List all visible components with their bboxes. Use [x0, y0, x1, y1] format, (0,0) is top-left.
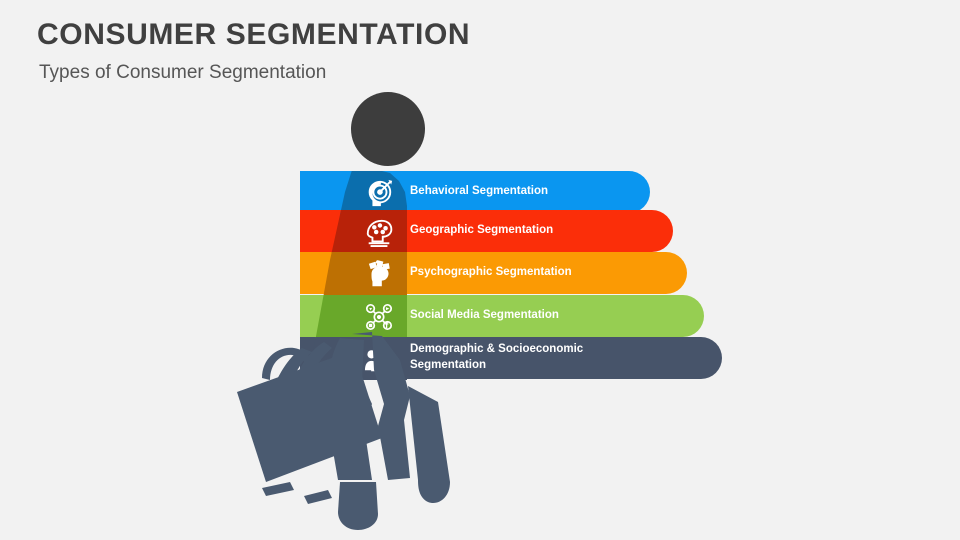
segmentation-row[interactable]: Psychographic Segmentation	[300, 252, 687, 294]
segmentation-label: Psychographic Segmentation	[410, 252, 572, 294]
torso-shape	[300, 170, 430, 385]
segmentation-row[interactable]: Geographic Segmentation	[300, 210, 673, 252]
segmentation-bar[interactable]	[300, 210, 673, 252]
segmentation-icon-panel[interactable]	[300, 210, 430, 253]
page-subtitle: Types of Consumer Segmentation	[39, 62, 326, 84]
segmentation-icon-panel[interactable]	[300, 295, 430, 338]
head-map-icon	[362, 215, 396, 249]
segmentation-row[interactable]: Behavioral Segmentation	[300, 171, 650, 213]
head-ideas-icon	[362, 257, 396, 291]
segmentation-label: Demographic & Socioeconomic Segmentation	[410, 337, 583, 379]
people-group-icon	[362, 342, 396, 376]
segmentation-bar[interactable]	[300, 252, 687, 294]
segmentation-icon-panel[interactable]	[300, 337, 430, 380]
slide-canvas: CONSUMER SEGMENTATION Types of Consumer …	[0, 0, 960, 540]
segmentation-row[interactable]: Demographic & Socioeconomic Segmentation	[300, 337, 722, 379]
shopper-silhouette-icon	[232, 330, 462, 530]
segmentation-row[interactable]: Social Media Segmentation	[300, 295, 704, 337]
segmentation-label: Behavioral Segmentation	[410, 171, 548, 213]
segmentation-icon-panel[interactable]	[300, 252, 430, 295]
segmentation-bar[interactable]	[300, 337, 722, 379]
social-network-icon	[362, 300, 396, 334]
segmentation-label: Geographic Segmentation	[410, 210, 553, 252]
segmentation-label: Social Media Segmentation	[410, 295, 559, 337]
head-target-icon	[362, 176, 396, 210]
segmentation-icon-panel[interactable]	[300, 171, 430, 214]
segmentation-bar[interactable]	[300, 295, 704, 337]
head-circle	[351, 92, 425, 166]
segmentation-bar[interactable]	[300, 171, 650, 213]
page-title: CONSUMER SEGMENTATION	[37, 18, 470, 52]
